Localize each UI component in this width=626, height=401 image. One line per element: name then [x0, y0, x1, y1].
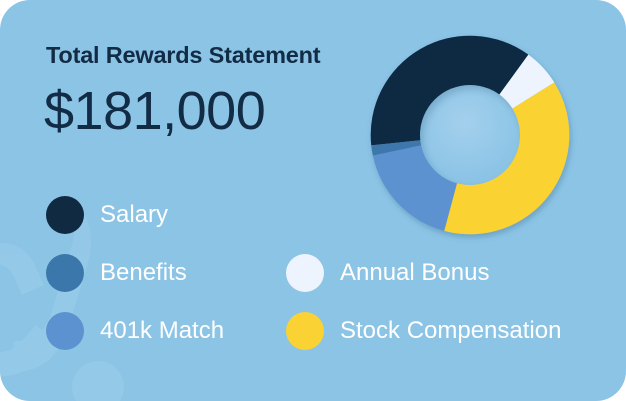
rewards-donut-chart	[357, 22, 583, 248]
total-rewards-card: Total Rewards Statement $181,000	[0, 0, 626, 401]
legend-label-401k-match: 401k Match	[100, 319, 224, 343]
total-amount: $181,000	[44, 84, 265, 138]
legend-swatch-annual-bonus	[286, 254, 324, 292]
legend-swatch-401k-match	[46, 312, 84, 350]
donut-center-hole	[420, 85, 520, 185]
legend-item-401k-match[interactable]: 401k Match	[46, 312, 224, 350]
legend-item-annual-bonus[interactable]: Annual Bonus	[286, 254, 489, 292]
legend-item-salary[interactable]: Salary	[46, 196, 168, 234]
legend-label-salary: Salary	[100, 203, 168, 227]
legend-swatch-salary	[46, 196, 84, 234]
legend-label-annual-bonus: Annual Bonus	[340, 261, 489, 285]
legend-item-stock-compensation[interactable]: Stock Compensation	[286, 312, 561, 350]
legend-swatch-stock-compensation	[286, 312, 324, 350]
legend-label-benefits: Benefits	[100, 261, 187, 285]
legend-label-stock-compensation: Stock Compensation	[340, 319, 561, 343]
legend-swatch-benefits	[46, 254, 84, 292]
legend-item-benefits[interactable]: Benefits	[46, 254, 187, 292]
page-title: Total Rewards Statement	[46, 42, 320, 69]
